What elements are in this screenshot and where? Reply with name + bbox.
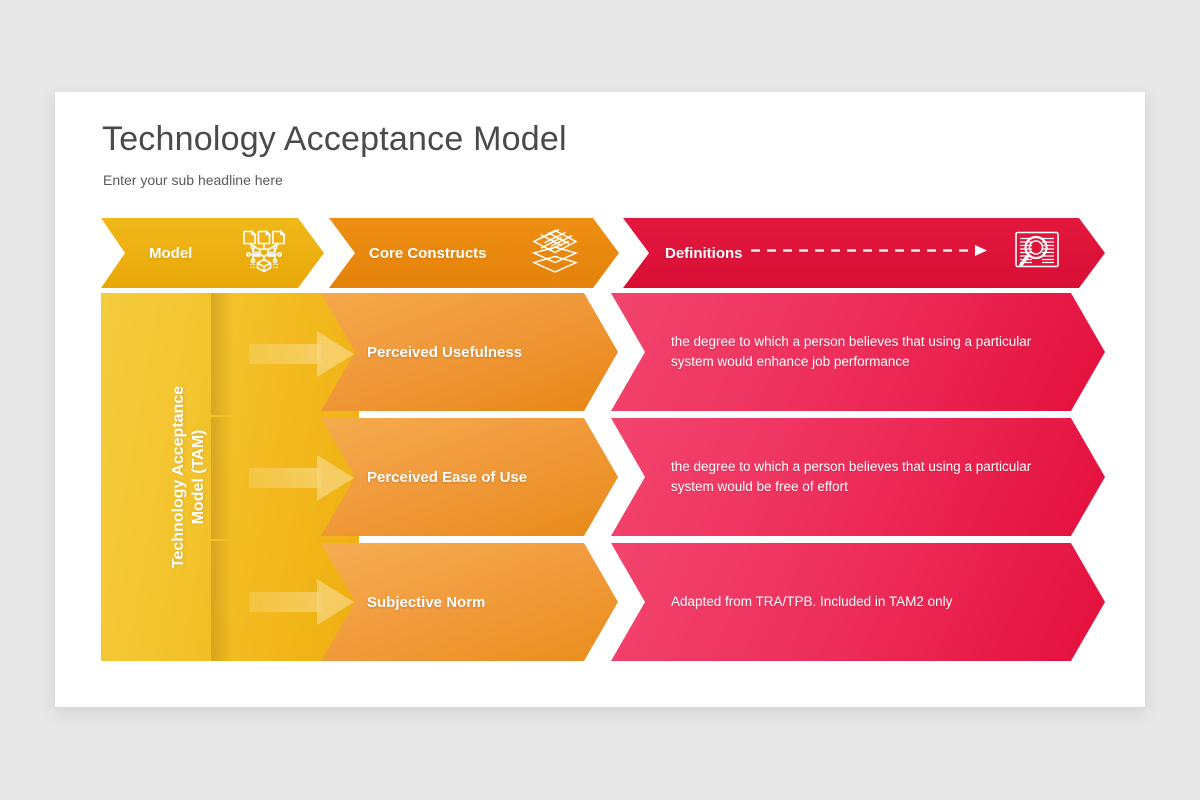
definition-text: the degree to which a person believes th… bbox=[671, 332, 1071, 371]
construct-label: Perceived Usefulness bbox=[367, 344, 522, 361]
right-arrow-icon bbox=[249, 455, 354, 501]
tam-diagram: Model bbox=[101, 218, 1105, 661]
definition-text: Adapted from TRA/TPB. Included in TAM2 o… bbox=[671, 592, 952, 612]
tam-left-panel[interactable]: Technology Acceptance Model (TAM) bbox=[101, 293, 359, 661]
right-arrow-icon bbox=[249, 331, 354, 377]
page-subtitle: Enter your sub headline here bbox=[103, 172, 283, 188]
tam-label-line-1: Technology Acceptance bbox=[169, 327, 189, 627]
construct-chevron[interactable]: Subjective Norm bbox=[321, 543, 618, 661]
diagram-header-row: Model bbox=[101, 218, 1105, 288]
tam-label-line-2: Model (TAM) bbox=[189, 327, 209, 627]
document-magnifier-icon bbox=[1013, 229, 1061, 278]
header-banner-model[interactable]: Model bbox=[101, 218, 324, 288]
slide-card: Technology Acceptance Model Enter your s… bbox=[55, 92, 1145, 707]
header-banner-definitions[interactable]: Definitions bbox=[623, 218, 1105, 288]
header-label-model: Model bbox=[149, 245, 192, 262]
header-banner-core-constructs[interactable]: Core Constructs bbox=[329, 218, 619, 288]
definition-chevron[interactable]: the degree to which a person believes th… bbox=[611, 293, 1105, 411]
construct-chevron[interactable]: Perceived Ease of Use bbox=[321, 418, 618, 536]
panel-fold bbox=[211, 417, 233, 539]
construct-chevron[interactable]: Perceived Usefulness bbox=[321, 293, 618, 411]
panel-fold bbox=[211, 541, 233, 661]
panel-fold bbox=[211, 293, 233, 415]
stacked-layers-icon bbox=[531, 229, 579, 278]
right-arrow-icon bbox=[249, 579, 354, 625]
tam-vertical-label: Technology Acceptance Model (TAM) bbox=[169, 327, 209, 627]
definition-chevron[interactable]: Adapted from TRA/TPB. Included in TAM2 o… bbox=[611, 543, 1105, 661]
diagram-body: Technology Acceptance Model (TAM) Percei… bbox=[101, 293, 1105, 661]
header-label-core-constructs: Core Constructs bbox=[369, 245, 487, 262]
data-model-network-icon bbox=[241, 229, 287, 278]
construct-label: Perceived Ease of Use bbox=[367, 469, 527, 486]
page-title: Technology Acceptance Model bbox=[102, 120, 567, 159]
dashed-arrow-icon bbox=[751, 244, 991, 263]
construct-label: Subjective Norm bbox=[367, 594, 485, 611]
header-label-definitions: Definitions bbox=[665, 245, 743, 262]
definition-chevron[interactable]: the degree to which a person believes th… bbox=[611, 418, 1105, 536]
definition-text: the degree to which a person believes th… bbox=[671, 457, 1071, 496]
